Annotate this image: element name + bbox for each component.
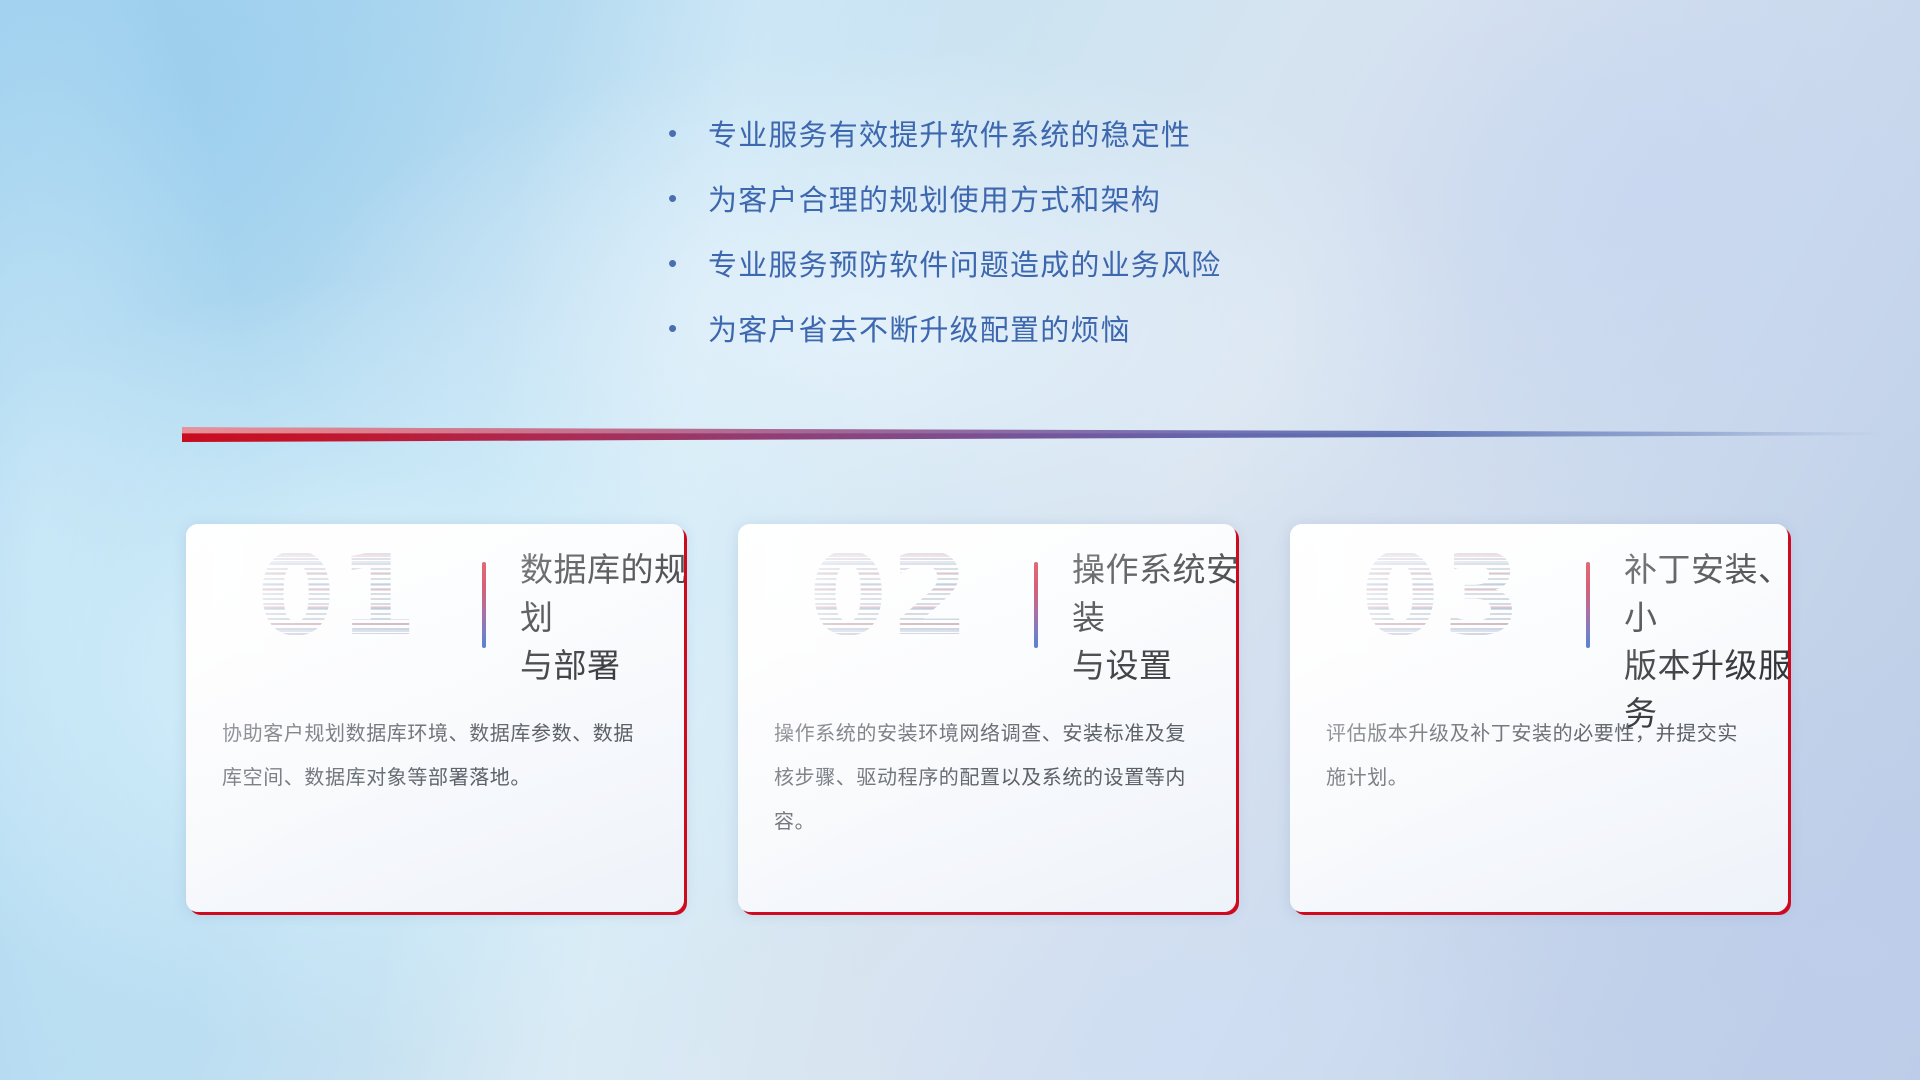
list-item: • 为客户省去不断升级配置的烦恼 <box>660 307 1560 372</box>
benefits-bullet-list: • 专业服务有效提升软件系统的稳定性 • 为客户合理的规划使用方式和架构 • 专… <box>660 112 1560 372</box>
bullet-dot-icon: • <box>660 120 708 146</box>
bullet-text: 专业服务预防软件问题造成的业务风险 <box>708 242 1221 284</box>
bullet-dot-icon: • <box>660 250 708 276</box>
list-item: • 专业服务预防软件问题造成的业务风险 <box>660 242 1560 307</box>
list-item: • 专业服务有效提升软件系统的稳定性 <box>660 112 1560 177</box>
service-card-group: 01 01 01 数据库的规划 与部署 协助客户规划数据库环境、数据库参数、数据… <box>0 524 1920 928</box>
card-number-watermark: 02 02 02 <box>766 538 1016 654</box>
card-accent-bar <box>1586 562 1590 648</box>
card-number-stripes-blue: 02 <box>766 538 1016 654</box>
card-inner: 03 03 03 补丁安装、小 版本升级服务 评估版本升级及补丁安装的必要性，并… <box>1290 524 1788 912</box>
card-inner: 01 01 01 数据库的规划 与部署 协助客户规划数据库环境、数据库参数、数据… <box>186 524 684 912</box>
card-title-line2: 与部署 <box>520 642 684 690</box>
card-title-line1: 数据库的规划 <box>520 546 684 642</box>
card-number-watermark: 03 03 03 <box>1318 538 1568 654</box>
section-divider <box>182 424 1882 442</box>
bullet-dot-icon: • <box>660 315 708 341</box>
card-accent-bar <box>1034 562 1038 648</box>
card-accent-bar <box>482 562 486 648</box>
card-title: 数据库的规划 与部署 <box>520 546 684 690</box>
card-body-text: 操作系统的安装环境网络调查、安装标准及复核步骤、驱动程序的配置以及系统的设置等内… <box>774 712 1204 844</box>
card-body-text: 协助客户规划数据库环境、数据库参数、数据库空间、数据库对象等部署落地。 <box>222 712 652 800</box>
card-number-stripes-blue: 01 <box>214 538 464 654</box>
card-body-text: 评估版本升级及补丁安装的必要性，并提交实施计划。 <box>1326 712 1756 800</box>
bullet-dot-icon: • <box>660 185 708 211</box>
service-card[interactable]: 02 02 02 操作系统安装 与设置 操作系统的安装环境网络调查、安装标准及复… <box>738 524 1236 912</box>
card-inner: 02 02 02 操作系统安装 与设置 操作系统的安装环境网络调查、安装标准及复… <box>738 524 1236 912</box>
card-title-line1: 操作系统安装 <box>1072 546 1236 642</box>
card-number-stripes-blue: 03 <box>1318 538 1568 654</box>
service-card[interactable]: 03 03 03 补丁安装、小 版本升级服务 评估版本升级及补丁安装的必要性，并… <box>1290 524 1788 912</box>
card-number-watermark: 01 01 01 <box>214 538 464 654</box>
card-title: 操作系统安装 与设置 <box>1072 546 1236 690</box>
card-title: 补丁安装、小 版本升级服务 <box>1624 546 1788 738</box>
card-title-line2: 与设置 <box>1072 642 1236 690</box>
card-title-line1: 补丁安装、小 <box>1624 546 1788 642</box>
bullet-text: 为客户合理的规划使用方式和架构 <box>708 177 1161 219</box>
service-card[interactable]: 01 01 01 数据库的规划 与部署 协助客户规划数据库环境、数据库参数、数据… <box>186 524 684 912</box>
bullet-text: 专业服务有效提升软件系统的稳定性 <box>708 112 1191 154</box>
bullet-text: 为客户省去不断升级配置的烦恼 <box>708 307 1131 349</box>
list-item: • 为客户合理的规划使用方式和架构 <box>660 177 1560 242</box>
